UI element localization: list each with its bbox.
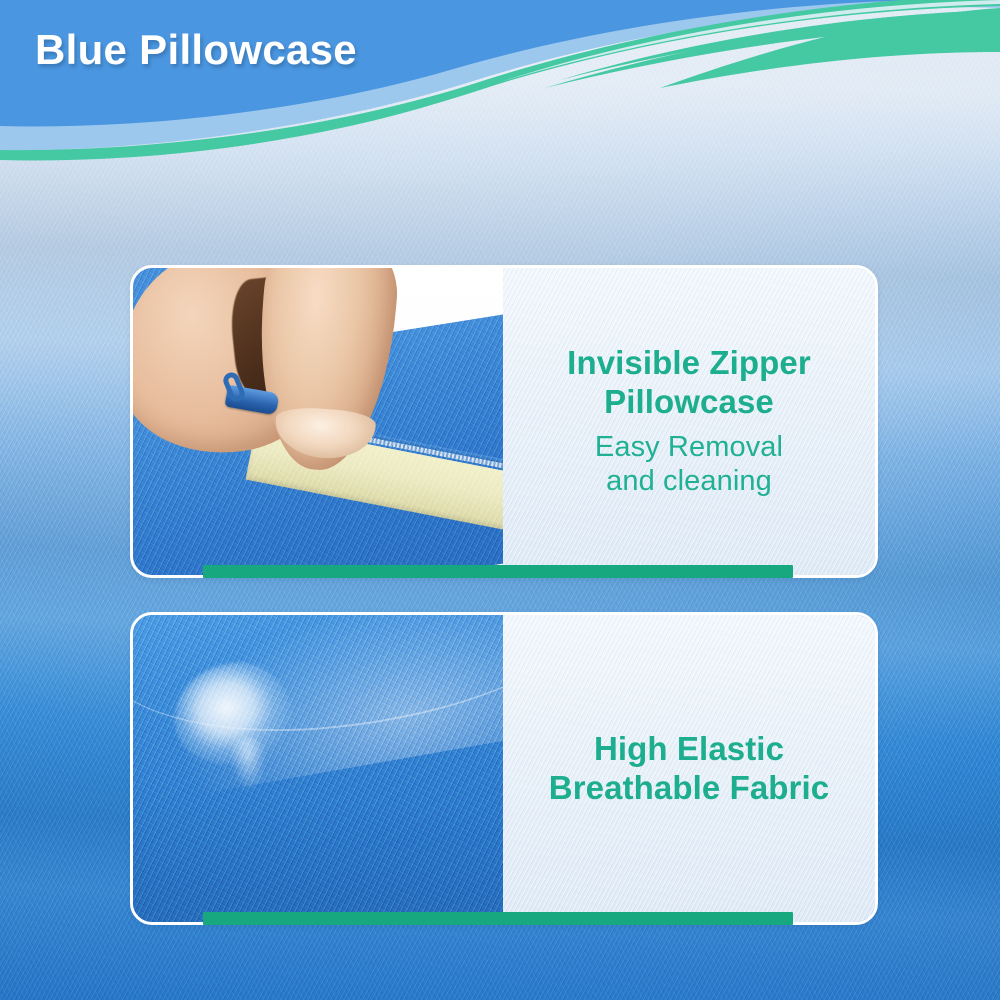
card-title-line-1: High Elastic [549, 730, 829, 769]
card-subtitle-invisible-zipper: Easy Removal and cleaning [595, 431, 783, 499]
fabric-bottom-shading [133, 615, 503, 922]
header-banner: Blue Pillowcase [0, 0, 1000, 185]
accent-bar-card-2 [203, 912, 793, 925]
card-subtitle-line-2: and cleaning [595, 465, 783, 499]
caption-panel-invisible-zipper: Invisible Zipper Pillowcase Easy Removal… [503, 268, 875, 575]
caption-panel-high-elastic: High Elastic Breathable Fabric [503, 615, 875, 922]
accent-bar-card-1 [203, 565, 793, 578]
card-title-invisible-zipper: Invisible Zipper Pillowcase [567, 344, 811, 421]
page-title: Blue Pillowcase [35, 26, 357, 74]
product-infographic: Blue Pillowcase Invisible Zipper Pillowc… [0, 0, 1000, 1000]
feature-card-invisible-zipper: Invisible Zipper Pillowcase Easy Removal… [130, 265, 878, 578]
card-title-line-1: Invisible Zipper [567, 344, 811, 383]
card-title-line-2: Pillowcase [567, 383, 811, 422]
feature-card-high-elastic: High Elastic Breathable Fabric [130, 612, 878, 925]
photo-high-elastic-fabric [133, 615, 503, 922]
card-subtitle-line-1: Easy Removal [595, 431, 783, 465]
photo-invisible-zipper [133, 268, 503, 575]
card-title-line-2: Breathable Fabric [549, 769, 829, 808]
card-title-high-elastic: High Elastic Breathable Fabric [549, 730, 829, 807]
